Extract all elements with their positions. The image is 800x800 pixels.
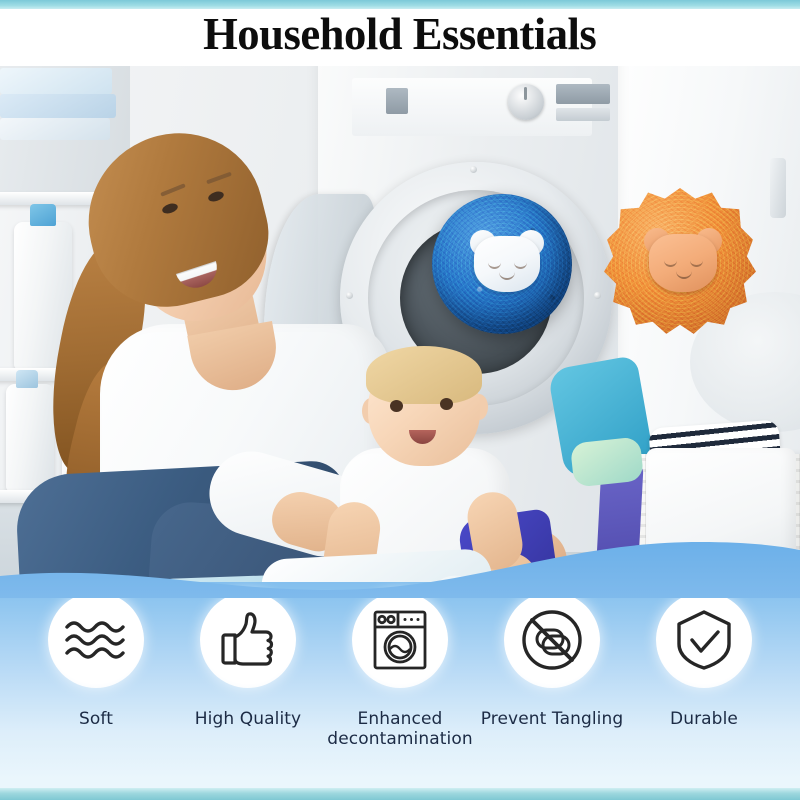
hero-photo xyxy=(0,62,800,582)
detergent-bottle-cap xyxy=(16,370,38,388)
baby-eye xyxy=(440,398,453,410)
feature-label: High Quality xyxy=(195,710,301,730)
door-bolt xyxy=(470,166,477,173)
feature-durable[interactable]: Durable xyxy=(630,592,778,749)
top-accent-strip xyxy=(0,0,800,9)
thumbs-up-icon xyxy=(200,592,296,688)
lion-head xyxy=(649,234,717,292)
page-title: Household Essentials xyxy=(203,9,596,57)
detergent-bottle-cap xyxy=(30,204,56,226)
dryer-handle xyxy=(770,158,786,218)
feature-prevent-tangling[interactable]: Prevent Tangling xyxy=(478,592,626,749)
feature-list: Soft High Quality xyxy=(0,592,800,749)
washing-machine-knob xyxy=(508,84,544,120)
panel-display xyxy=(556,84,610,104)
feature-label: Prevent Tangling xyxy=(481,710,624,730)
folded-towel xyxy=(0,68,112,94)
waves-icon xyxy=(48,592,144,688)
shield-check-icon xyxy=(656,592,752,688)
lion-face xyxy=(644,228,722,294)
feature-soft[interactable]: Soft xyxy=(22,592,170,749)
door-bolt xyxy=(594,292,601,299)
title-bar: Household Essentials xyxy=(0,0,800,66)
feature-label: Soft xyxy=(79,710,113,730)
bear-head xyxy=(474,236,540,292)
product-infographic: Soft High Quality xyxy=(0,0,800,800)
bear-face xyxy=(470,230,544,294)
detergent-bottle xyxy=(6,384,54,492)
door-bolt xyxy=(346,292,353,299)
feature-label: Durable xyxy=(670,710,738,730)
feature-high-quality[interactable]: High Quality xyxy=(174,592,322,749)
photo-bottom-curve xyxy=(0,528,800,598)
feature-decontamination[interactable]: Enhanced decontamination xyxy=(326,592,474,749)
panel-display-small xyxy=(386,88,408,114)
feature-label: Enhanced decontamination xyxy=(327,710,472,749)
bottom-accent-strip xyxy=(0,788,800,800)
baby-hair xyxy=(366,346,482,404)
folded-towel xyxy=(0,118,110,140)
mint-garment xyxy=(570,436,644,487)
panel-buttons xyxy=(556,108,610,121)
baby-eye xyxy=(390,400,403,412)
no-tangle-icon xyxy=(504,592,600,688)
washing-machine-icon xyxy=(352,592,448,688)
folded-towel xyxy=(0,94,116,118)
